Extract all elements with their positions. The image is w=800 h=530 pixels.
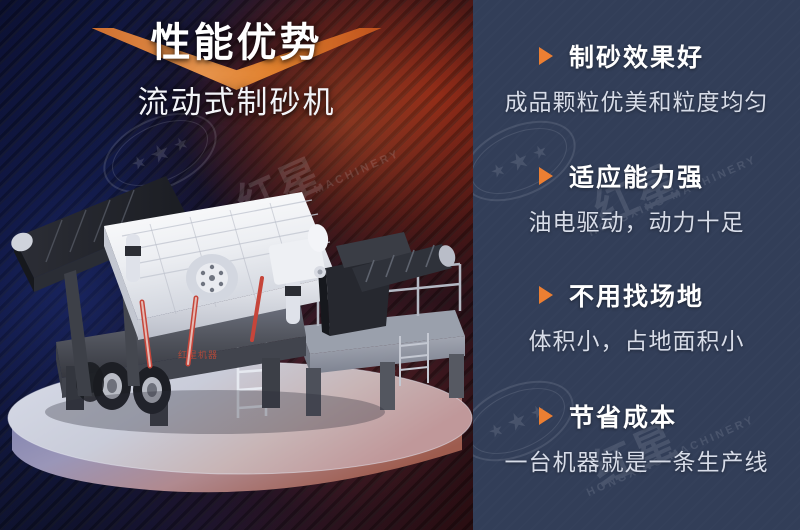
left-visual-panel: ★ ★ ★ 红星 HONGXING MACHINERY ★ ★ ★ 红星 HON… bbox=[0, 0, 473, 530]
features-panel: ★ ★ ★ 红星 HONGXING MACHINERY ★ ★ ★ 红星 HON… bbox=[473, 0, 800, 530]
machine-illustration: 红星机器 bbox=[0, 150, 473, 530]
triangle-right-icon bbox=[539, 47, 553, 65]
feature-title: 制砂效果好 bbox=[569, 38, 704, 74]
mobile-sand-making-machine-svg: 红星机器 bbox=[0, 150, 473, 530]
promo-banner: ★ ★ ★ 红星 HONGXING MACHINERY ★ ★ ★ 红星 HON… bbox=[0, 0, 800, 530]
feature-subtitle: 体积小，占地面积小 bbox=[473, 322, 800, 356]
feature-heading-row: 不用找场地 bbox=[473, 277, 800, 313]
feature-heading-row: 适应能力强 bbox=[473, 158, 800, 194]
feature-subtitle: 油电驱动，动力十足 bbox=[473, 203, 800, 237]
triangle-right-icon bbox=[539, 286, 553, 304]
feature-title: 不用找场地 bbox=[569, 277, 704, 313]
feature-item-2: 适应能力强 油电驱动，动力十足 bbox=[473, 158, 800, 237]
title-block: 性能优势 流动式制砂机 bbox=[0, 22, 473, 122]
feature-title: 节省成本 bbox=[569, 398, 677, 434]
machine-shadow bbox=[45, 390, 385, 434]
page-subtitle: 流动式制砂机 bbox=[0, 77, 473, 122]
feature-heading-row: 制砂效果好 bbox=[473, 38, 800, 74]
triangle-right-icon bbox=[539, 407, 553, 425]
platform-leg bbox=[380, 362, 395, 410]
feature-heading-row: 节省成本 bbox=[473, 398, 800, 434]
machine-brand-label: 红星机器 bbox=[178, 349, 218, 360]
triangle-right-icon bbox=[539, 167, 553, 185]
feature-item-1: 制砂效果好 成品颗粒优美和粒度均匀 bbox=[473, 38, 800, 117]
feature-item-4: 节省成本 一台机器就是一条生产线 bbox=[473, 398, 800, 477]
feature-subtitle: 一台机器就是一条生产线 bbox=[473, 443, 800, 477]
page-title: 性能优势 bbox=[0, 22, 473, 65]
feature-title: 适应能力强 bbox=[569, 158, 704, 194]
feature-item-3: 不用找场地 体积小，占地面积小 bbox=[473, 277, 800, 356]
feature-subtitle: 成品颗粒优美和粒度均匀 bbox=[473, 83, 800, 117]
platform-leg bbox=[449, 354, 464, 398]
